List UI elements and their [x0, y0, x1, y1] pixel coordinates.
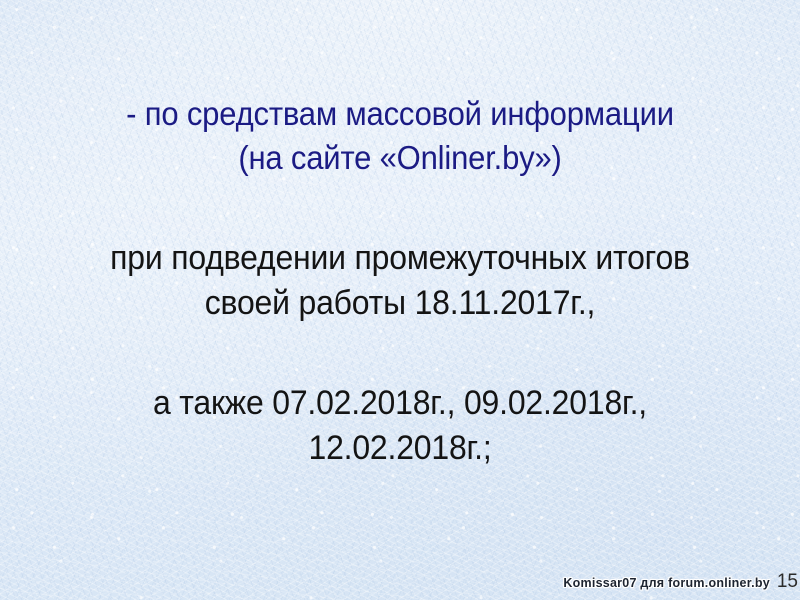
paragraph-additional-dates-line-2: 12.02.2018г.;: [24, 426, 776, 471]
slide-page-number: 15: [777, 572, 798, 591]
paragraph-interim-results-line-2: своей работы 18.11.2017г.,: [24, 281, 776, 326]
paragraph-interim-results: при подведении промежуточных итогов свое…: [0, 236, 800, 326]
forum-watermark: Komissar07 для forum.onliner.by: [563, 576, 770, 590]
paragraph-media-source-line-1: - по средствам массовой информации: [24, 92, 776, 136]
paragraph-additional-dates-line-1: а также 07.02.2018г., 09.02.2018г.,: [24, 381, 776, 426]
paragraph-media-source-line-2: (на сайте «Onliner.by»): [24, 136, 776, 180]
slide-content: - по средствам массовой информации (на с…: [0, 0, 800, 600]
paragraph-additional-dates: а также 07.02.2018г., 09.02.2018г., 12.0…: [0, 381, 800, 471]
paragraph-media-source: - по средствам массовой информации (на с…: [0, 92, 800, 180]
slide-canvas: - по средствам массовой информации (на с…: [0, 0, 800, 600]
paragraph-interim-results-line-1: при подведении промежуточных итогов: [24, 236, 776, 281]
